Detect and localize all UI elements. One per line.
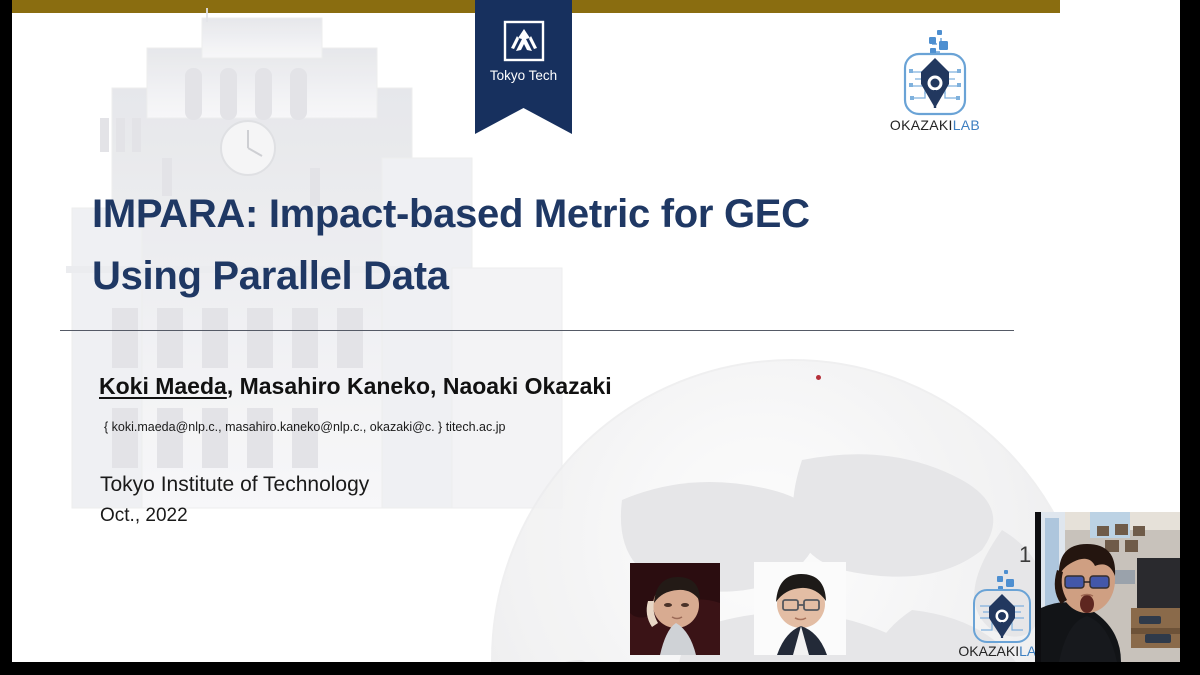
presenter-webcam[interactable]: [1035, 512, 1180, 662]
coauthors: , Masahiro Kaneko, Naoaki Okazaki: [227, 373, 612, 399]
portrait-speaker-left: [630, 563, 720, 655]
author-emails: { koki.maeda@nlp.c., masahiro.kaneko@nlp…: [104, 420, 505, 434]
screen-root: Tokyo Tech: [0, 0, 1200, 675]
map-pin-dot-icon: [816, 375, 821, 380]
svg-text:OKAZAKILAB: OKAZAKILAB: [890, 117, 980, 133]
presentation-slide: Tokyo Tech: [12, 0, 1180, 662]
slide-page-number: 1: [1019, 542, 1031, 568]
webcam-video-frame: [1035, 512, 1180, 662]
tokyo-tech-logo: Tokyo Tech: [475, 0, 572, 134]
okazaki-lab-name: OKAZAKI: [890, 117, 953, 133]
presenting-author: Koki Maeda: [99, 373, 227, 399]
title-divider: [60, 330, 1014, 331]
author-list: Koki Maeda, Masahiro Kaneko, Naoaki Okaz…: [99, 373, 612, 400]
portrait-speaker-right: [754, 562, 846, 655]
svg-text:OKAZAKILAB: OKAZAKILAB: [958, 643, 1045, 659]
page-title: IMPARA: Impact-based Metric for GEC Usin…: [92, 183, 992, 307]
clock-tower-face: [221, 121, 275, 175]
okazaki-lab-name: OKAZAKI: [958, 643, 1019, 659]
affiliation: Tokyo Institute of Technology: [100, 473, 369, 497]
pen-nib-circuit-icon: [905, 30, 965, 114]
presentation-date: Oct., 2022: [100, 505, 188, 527]
tokyo-tech-label: Tokyo Tech: [490, 68, 557, 83]
title-line-1: IMPARA: Impact-based Metric for GEC: [92, 183, 992, 245]
title-line-2: Using Parallel Data: [92, 245, 992, 307]
okazaki-lab-suffix: LAB: [953, 117, 980, 133]
pen-nib-circuit-icon: [974, 570, 1030, 642]
okazaki-lab-logo-top: OKAZAKILAB: [885, 28, 985, 136]
